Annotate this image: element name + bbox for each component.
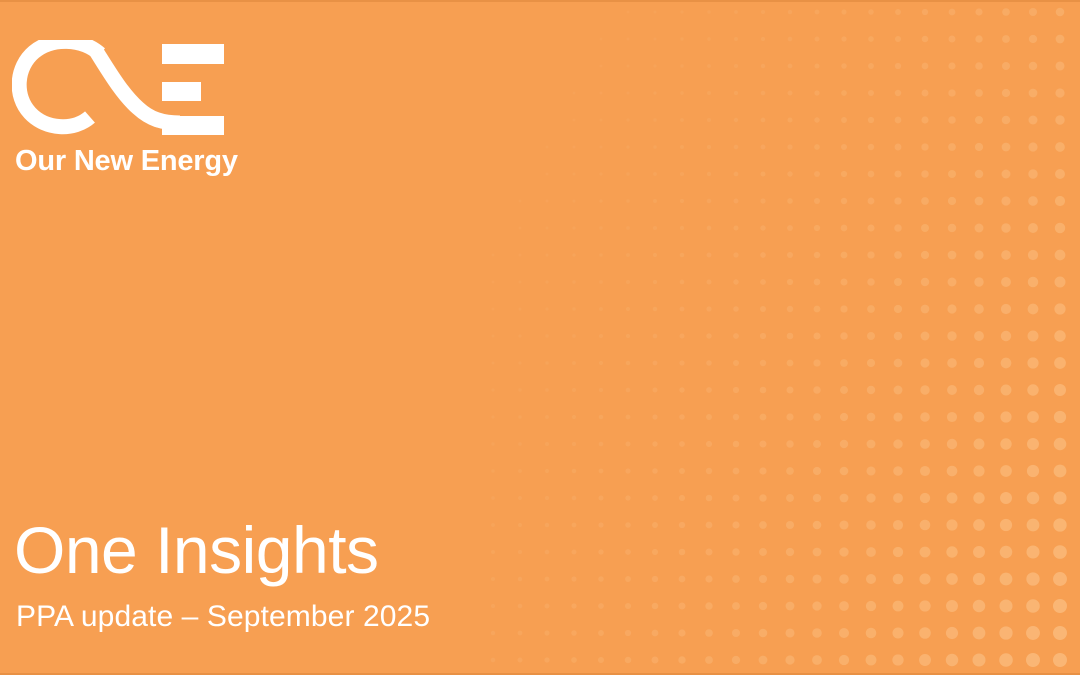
brand-wordmark: Our New Energy — [15, 147, 252, 176]
title-block: One Insights PPA update – September 2025 — [14, 517, 634, 633]
slide-title: One Insights — [14, 517, 634, 584]
top-edge-line — [0, 0, 1080, 2]
brand-logo: Our New Energy — [12, 40, 252, 176]
slide-subtitle: PPA update – September 2025 — [16, 600, 634, 633]
one-logo-mark — [12, 40, 224, 138]
slide-canvas: Our New Energy One Insights PPA update –… — [0, 0, 1080, 675]
